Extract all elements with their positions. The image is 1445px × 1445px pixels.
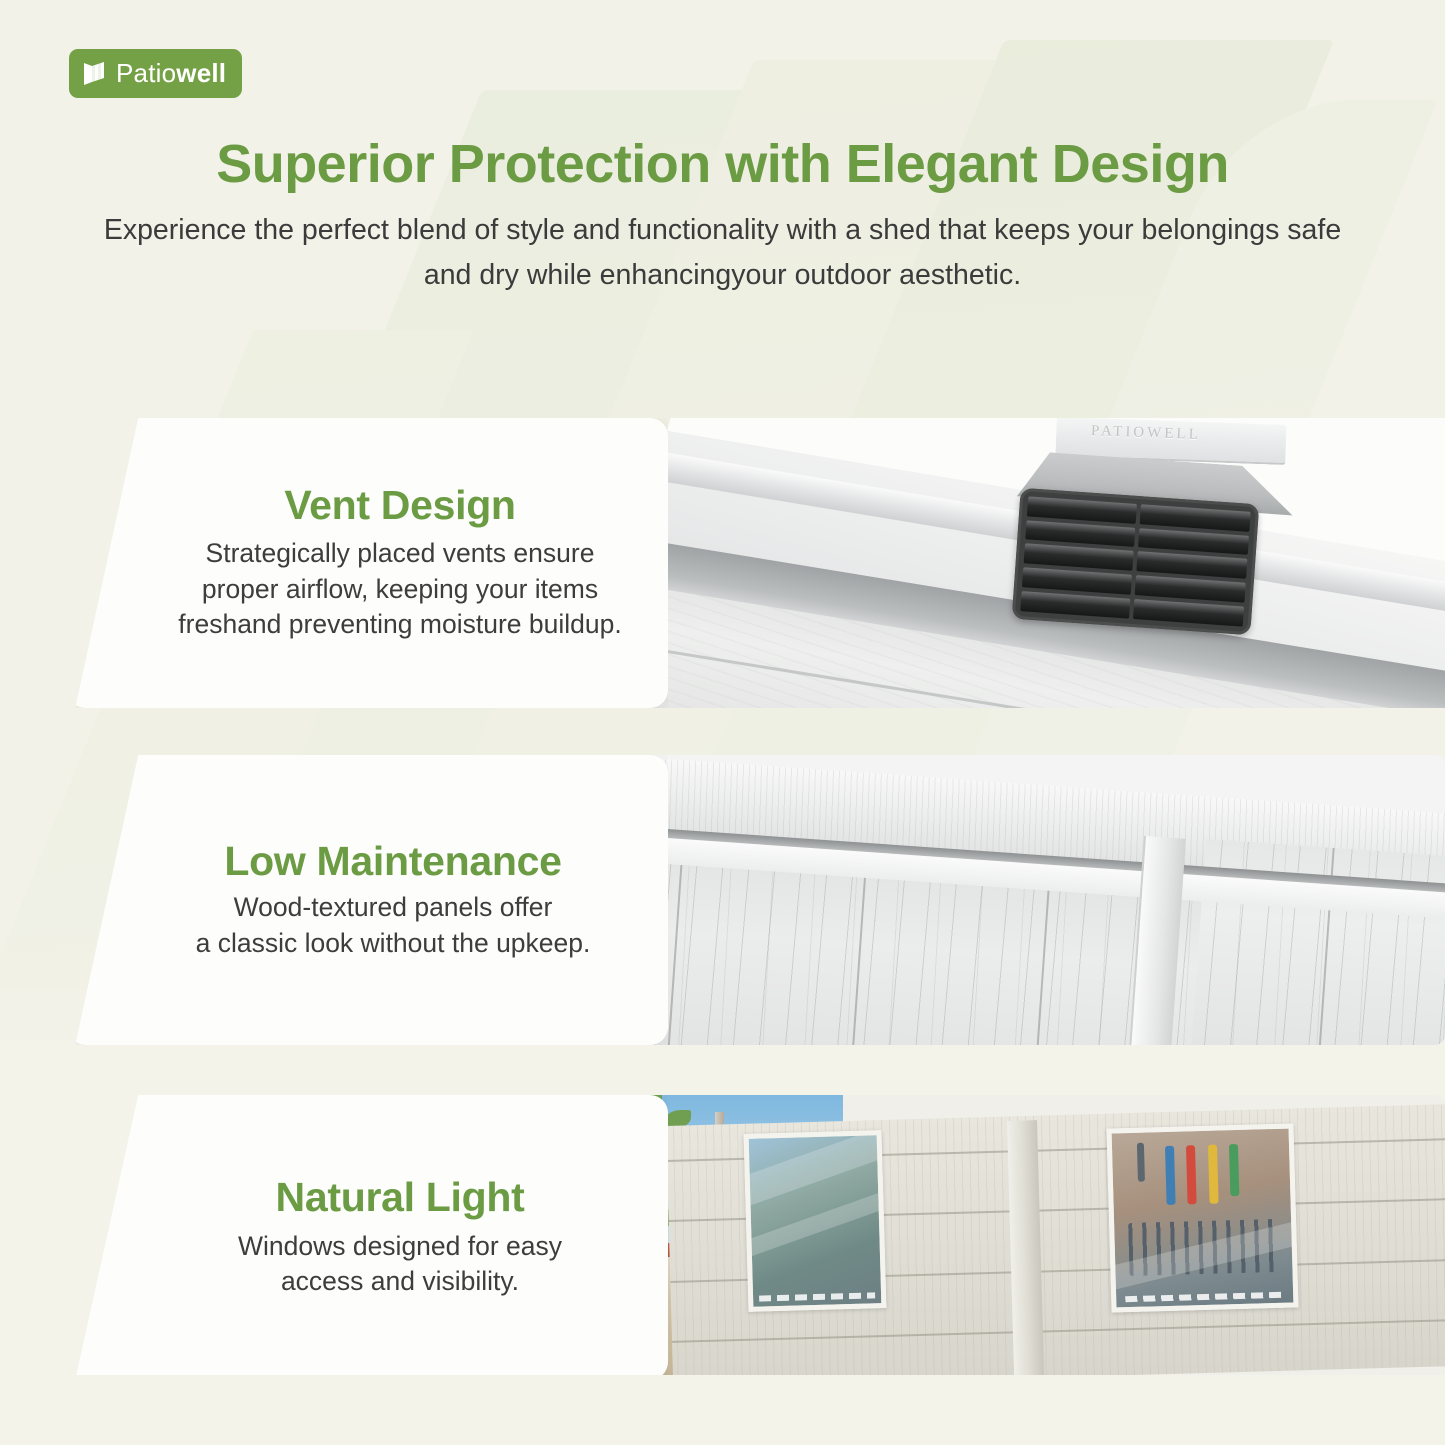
logo-text-regular: Patio xyxy=(116,58,176,88)
feature-card-low-maintenance: Low Maintenance Wood-textured panels off… xyxy=(68,755,668,1045)
page-header: Superior Protection with Elegant Design … xyxy=(0,134,1445,297)
feature-body-low-maintenance: Wood-textured panels offer a classic loo… xyxy=(196,890,591,961)
shed-window-right xyxy=(1106,1124,1298,1313)
feature-image-low-maintenance xyxy=(560,755,1445,1045)
logo-wordmark: Patiowell xyxy=(116,58,226,89)
page-subtitle: Experience the perfect blend of style an… xyxy=(98,208,1348,296)
feature-row-low-maintenance: Low Maintenance Wood-textured panels off… xyxy=(0,755,1445,1045)
logo-text-bold: well xyxy=(176,58,226,88)
feature-row-vent-design: PATIOWELL Vent Design Strategically plac… xyxy=(0,418,1445,708)
feature-card-natural-light: Natural Light Windows designed for easy … xyxy=(68,1095,668,1380)
feature-image-vent-design: PATIOWELL xyxy=(560,418,1445,708)
feature-row-natural-light: Natural Light Windows designed for easy … xyxy=(0,1095,1445,1380)
feature-image-natural-light xyxy=(560,1095,1445,1380)
feature-title-vent-design: Vent Design xyxy=(284,483,515,528)
feature-body-vent-design: Strategically placed vents ensure proper… xyxy=(178,536,621,643)
page-title: Superior Protection with Elegant Design xyxy=(0,134,1445,194)
feature-title-natural-light: Natural Light xyxy=(276,1175,525,1220)
shed-window-left xyxy=(743,1130,886,1312)
feature-body-natural-light: Windows designed for easy access and vis… xyxy=(238,1229,562,1300)
louvered-vent-icon xyxy=(1012,488,1259,635)
brand-logo[interactable]: Patiowell xyxy=(69,49,242,98)
book-pages-icon xyxy=(81,60,107,88)
feature-title-low-maintenance: Low Maintenance xyxy=(224,839,561,884)
bottom-fade xyxy=(0,1375,1445,1445)
feature-card-vent-design: Vent Design Strategically placed vents e… xyxy=(68,418,668,708)
